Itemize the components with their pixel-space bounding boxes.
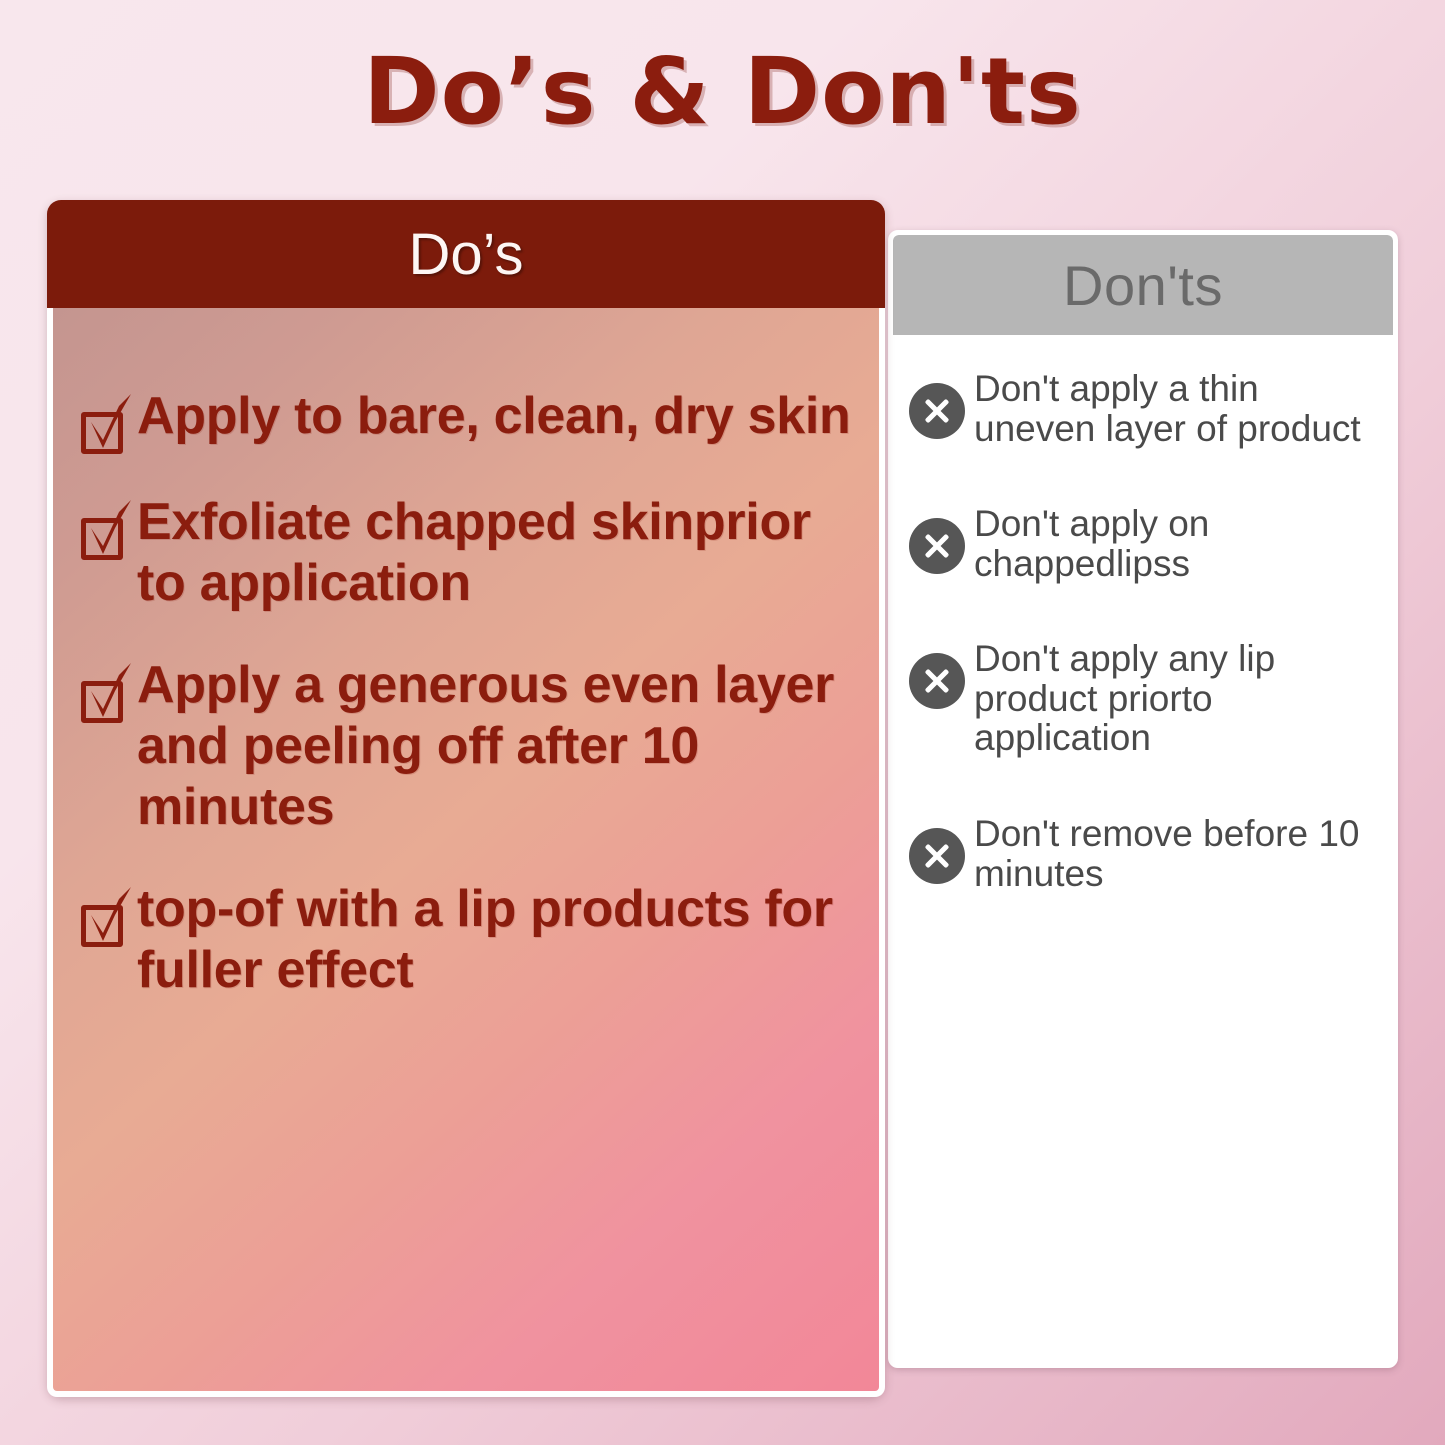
dos-header-label: Do’s — [409, 221, 524, 288]
donts-card: Don'ts Don't apply a thin uneven layer o… — [888, 230, 1398, 1368]
do-item-label: Apply a generous even layer and peeling … — [137, 655, 853, 839]
list-item: top-of with a lip products for fuller ef… — [79, 879, 853, 1002]
donts-header: Don'ts — [893, 235, 1393, 335]
circle-x-icon — [909, 518, 965, 574]
list-item: Don't apply on chappedlipss — [909, 500, 1375, 583]
circle-x-icon — [909, 653, 965, 709]
do-item-label: Apply to bare, clean, dry skin — [137, 386, 850, 447]
list-item: Don't remove before 10 minutes — [909, 810, 1375, 893]
list-item: Apply to bare, clean, dry skin — [79, 386, 853, 452]
circle-x-icon — [909, 828, 965, 884]
donts-list: Don't apply a thin uneven layer of produ… — [893, 335, 1393, 1363]
dont-item-label: Don't apply on chappedlipss — [974, 500, 1375, 583]
do-item-label: Exfoliate chapped skinprior to applicati… — [137, 492, 853, 615]
dont-item-label: Don't apply any lip product priorto appl… — [974, 635, 1375, 758]
dos-card: Do’s Apply to bare, clean, dry skin Exfo… — [47, 200, 885, 1397]
check-box-icon — [79, 671, 135, 721]
do-item-label: top-of with a lip products for fuller ef… — [137, 879, 853, 1002]
dont-item-label: Don't remove before 10 minutes — [974, 810, 1375, 893]
list-item: Exfoliate chapped skinprior to applicati… — [79, 492, 853, 615]
list-item: Don't apply any lip product priorto appl… — [909, 635, 1375, 758]
check-box-icon — [79, 402, 135, 452]
dos-list: Apply to bare, clean, dry skin Exfoliate… — [47, 308, 885, 1397]
page-title: Do’s & Don'ts — [0, 38, 1445, 145]
dos-header: Do’s — [47, 200, 885, 308]
check-box-icon — [79, 895, 135, 945]
list-item: Don't apply a thin uneven layer of produ… — [909, 365, 1375, 448]
list-item: Apply a generous even layer and peeling … — [79, 655, 853, 839]
circle-x-icon — [909, 383, 965, 439]
donts-header-label: Don'ts — [1063, 253, 1223, 318]
dont-item-label: Don't apply a thin uneven layer of produ… — [974, 365, 1375, 448]
check-box-icon — [79, 508, 135, 558]
